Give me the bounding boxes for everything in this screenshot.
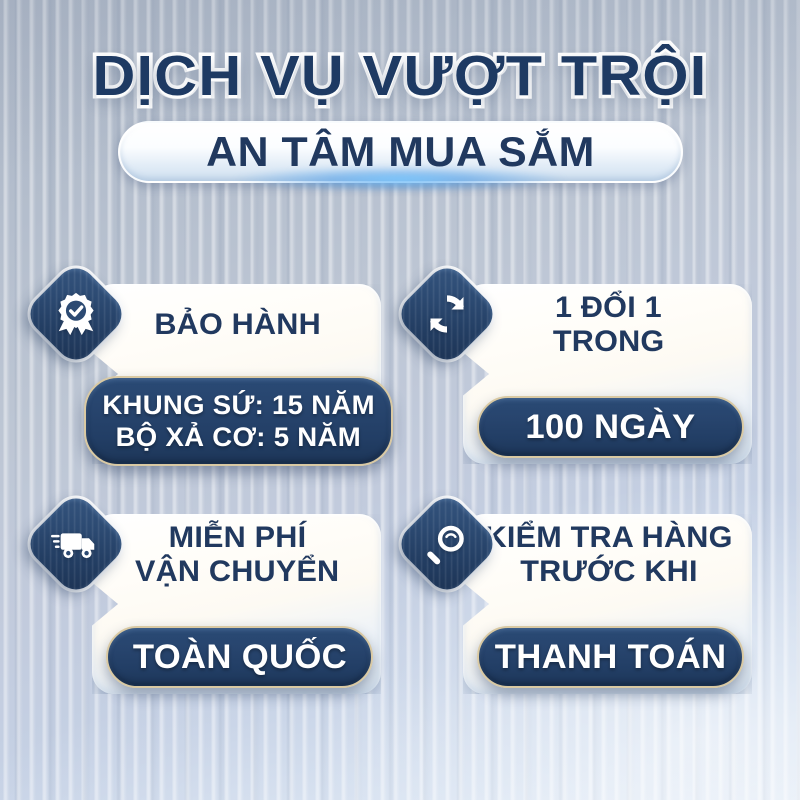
feature-card-warranty: BẢO HÀNH KHUNG SỨ: 15 NĂM BỘ XẢ CƠ: 5 NĂ… [34, 262, 395, 482]
card-highlight-pill: TOÀN QUỐC [106, 626, 373, 688]
subtitle-banner: AN TÂM MUA SẮM [118, 121, 683, 183]
feature-card-free-shipping: MIỄN PHÍ VẬN CHUYỂN TOÀN QUỐC [34, 492, 395, 712]
subtitle-text: AN TÂM MUA SẮM [112, 121, 688, 183]
header: DỊCH VỤ VƯỢT TRỘI AN TÂM MUA SẮM [0, 0, 800, 183]
pill-line: KHUNG SỨ: 15 NĂM [102, 389, 375, 421]
pill-line: 100 NGÀY [525, 407, 695, 448]
card-highlight-pill: THANH TOÁN [477, 626, 744, 688]
card-highlight-pill: 100 NGÀY [477, 396, 744, 458]
feature-card-inspect-before-pay: KIỂM TRA HÀNG TRƯỚC KHI THANH TOÁN [405, 492, 766, 712]
pill-line: THANH TOÁN [495, 637, 727, 678]
feature-card-grid: BẢO HÀNH KHUNG SỨ: 15 NĂM BỘ XẢ CƠ: 5 NĂ… [34, 262, 766, 712]
page-title: DỊCH VỤ VƯỢT TRỘI [0, 0, 800, 105]
feature-card-exchange: 1 ĐỔI 1 TRONG 100 NGÀY [405, 262, 766, 482]
card-highlight-pill: KHUNG SỨ: 15 NĂM BỘ XẢ CƠ: 5 NĂM [84, 376, 393, 466]
pill-line: BỘ XẢ CƠ: 5 NĂM [116, 421, 361, 453]
pill-line: TOÀN QUỐC [132, 637, 346, 678]
